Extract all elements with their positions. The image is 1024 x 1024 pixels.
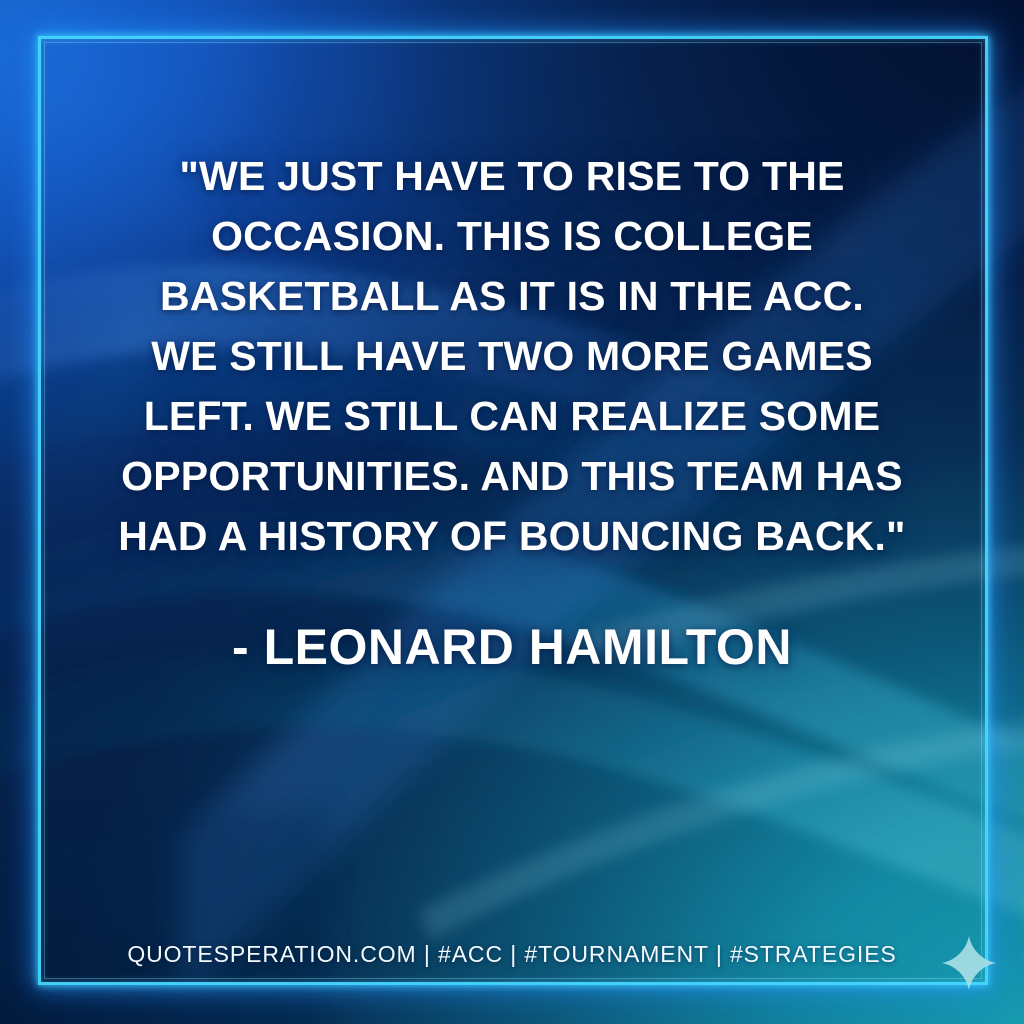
quote-line: WE STILL HAVE TWO MORE GAMES — [66, 326, 958, 386]
footer-credits: QUOTESPERATION.COM | #ACC | #TOURNAMENT … — [0, 941, 1024, 968]
quote-card: "WE JUST HAVE TO RISE TO THE OCCASION. T… — [0, 0, 1024, 1024]
quote-line: OPPORTUNITIES. AND THIS TEAM HAS — [66, 446, 958, 506]
quote-attribution: - LEONARD HAMILTON — [66, 618, 958, 676]
quote-text: "WE JUST HAVE TO RISE TO THE OCCASION. T… — [66, 146, 958, 566]
quote-line: OCCASION. THIS IS COLLEGE — [66, 206, 958, 266]
quote-line: "WE JUST HAVE TO RISE TO THE — [66, 146, 958, 206]
quote-line: LEFT. WE STILL CAN REALIZE SOME — [66, 386, 958, 446]
quote-line: BASKETBALL AS IT IS IN THE ACC. — [66, 266, 958, 326]
quote-line: HAD A HISTORY OF BOUNCING BACK." — [66, 506, 958, 566]
